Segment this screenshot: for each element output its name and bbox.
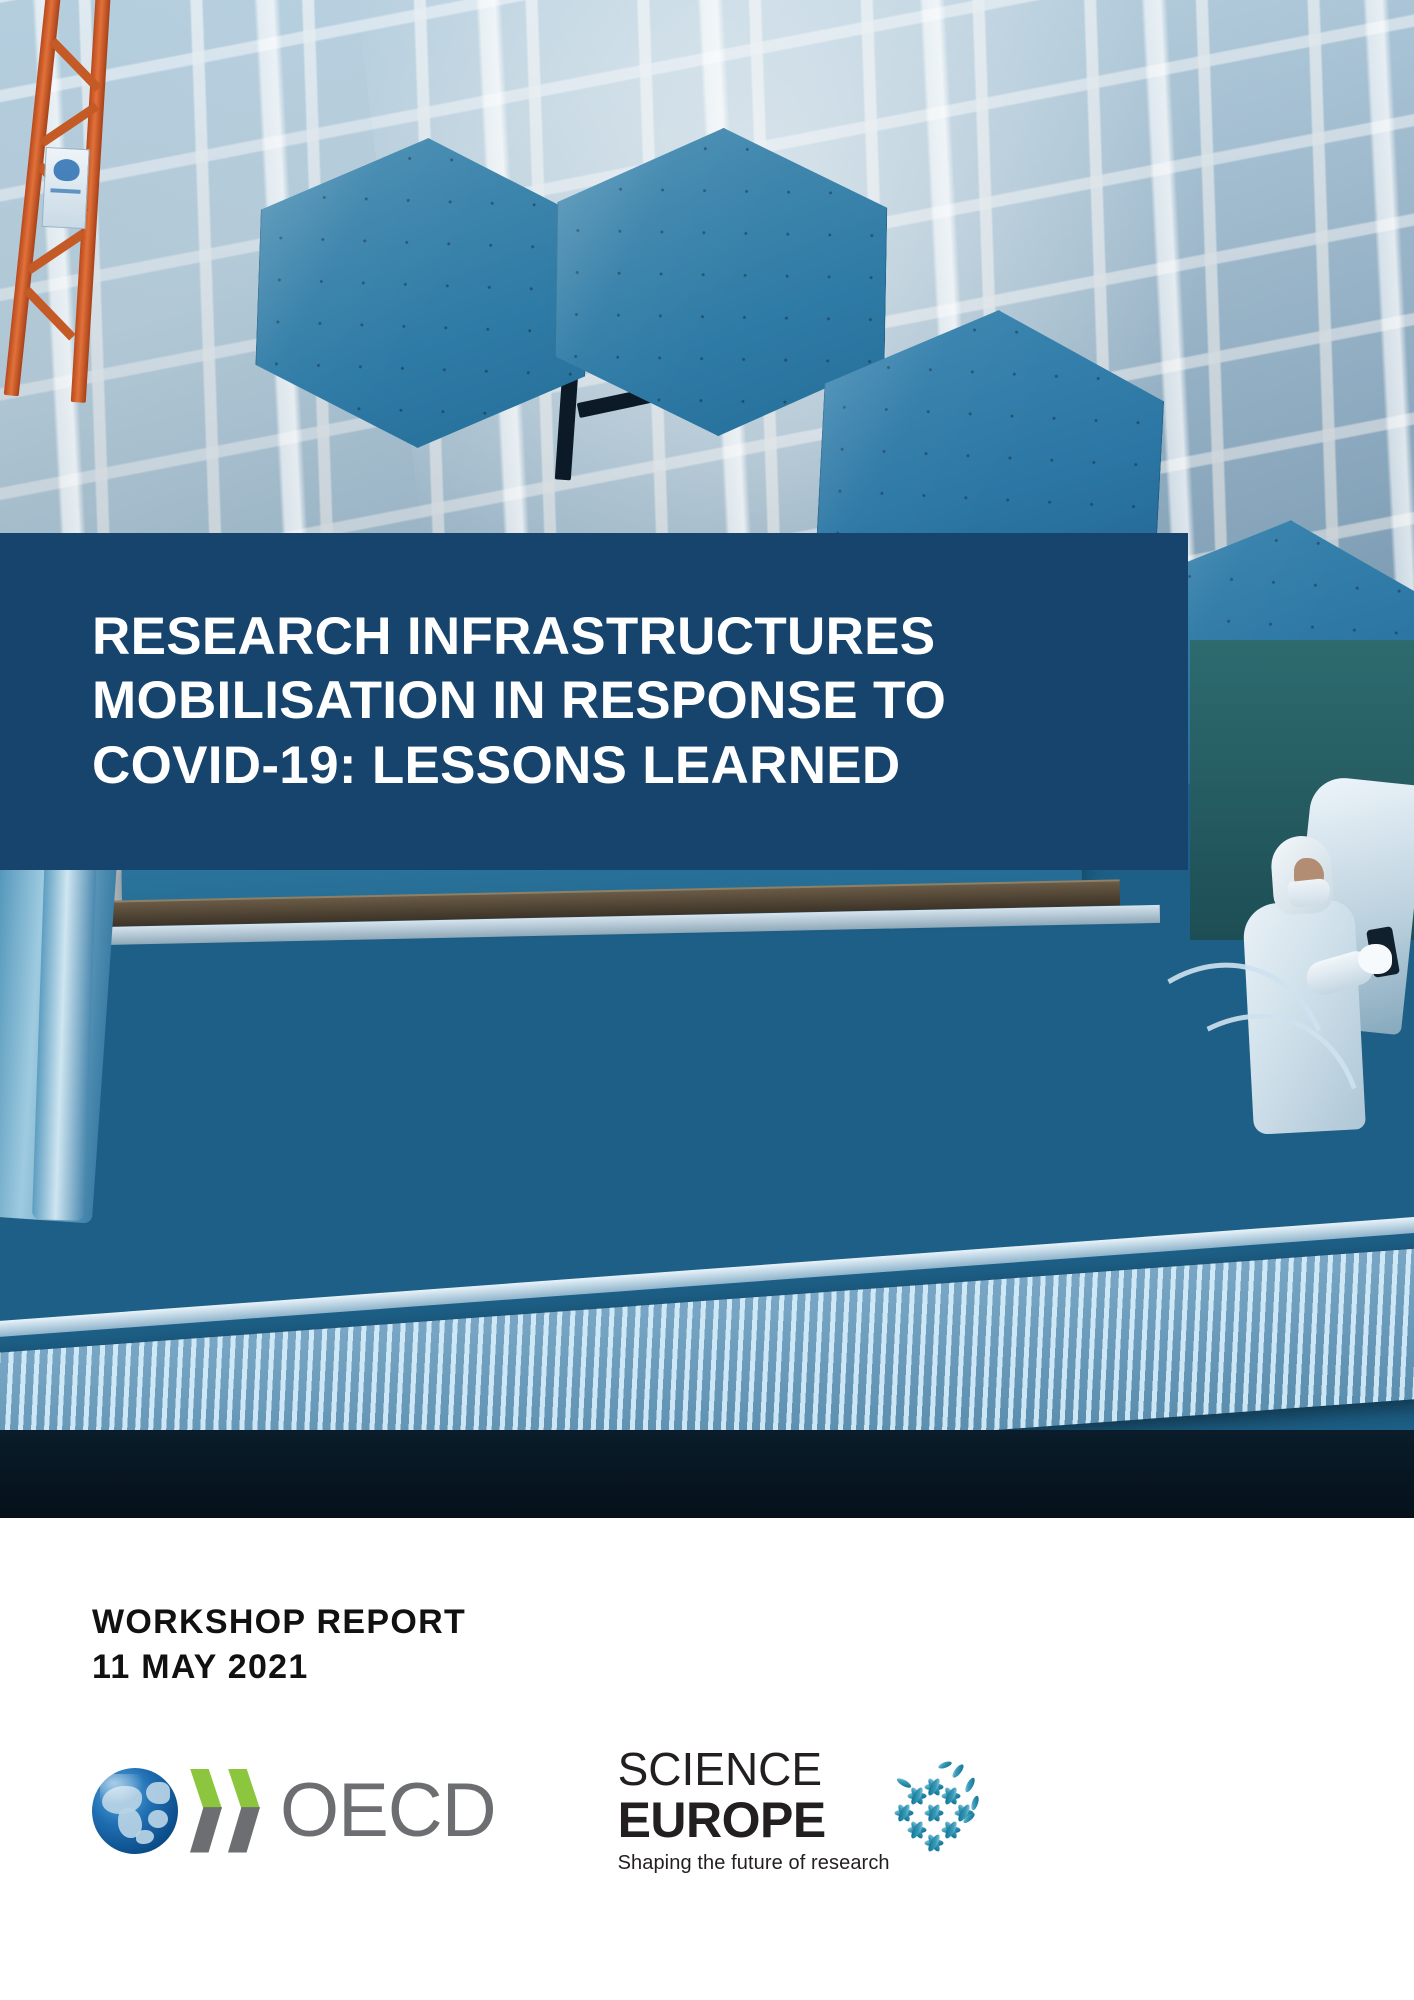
report-cover-page: RESEARCH INFRASTRUCTURES MOBILISATION IN…: [0, 0, 1414, 2000]
title-line-2: MOBILISATION IN RESPONSE TO: [92, 669, 1096, 733]
title-line-1: RESEARCH INFRASTRUCTURES: [92, 605, 1096, 669]
report-type-label: WORKSHOP REPORT: [92, 1600, 466, 1645]
report-meta: WORKSHOP REPORT 11 MAY 2021: [92, 1600, 466, 1690]
logo-row: OECD SCIENCE EUROPE Shaping the future o…: [92, 1746, 988, 1875]
oecd-logo: OECD: [92, 1768, 496, 1854]
crane-placard: [42, 147, 90, 229]
science-europe-sphere-icon: [884, 1759, 988, 1863]
report-date-label: 11 MAY 2021: [92, 1645, 466, 1690]
science-europe-tagline: Shaping the future of research: [618, 1852, 890, 1875]
science-europe-logo: SCIENCE EUROPE Shaping the future of res…: [618, 1746, 988, 1875]
title-line-3: COVID-19: LESSONS LEARNED: [92, 734, 1096, 798]
oecd-globe-icon: [92, 1768, 178, 1854]
science-europe-line-1: SCIENCE: [618, 1746, 890, 1792]
science-europe-wordmark: SCIENCE EUROPE Shaping the future of res…: [618, 1746, 890, 1875]
cover-footer: WORKSHOP REPORT 11 MAY 2021 OECD: [0, 1518, 1414, 2000]
oecd-wordmark: OECD: [280, 1773, 496, 1849]
oecd-chevron-icon: [190, 1769, 266, 1853]
title-band: RESEARCH INFRASTRUCTURES MOBILISATION IN…: [0, 533, 1188, 870]
floor-shadow: [0, 1430, 1414, 1518]
science-europe-line-2: EUROPE: [618, 1794, 890, 1846]
